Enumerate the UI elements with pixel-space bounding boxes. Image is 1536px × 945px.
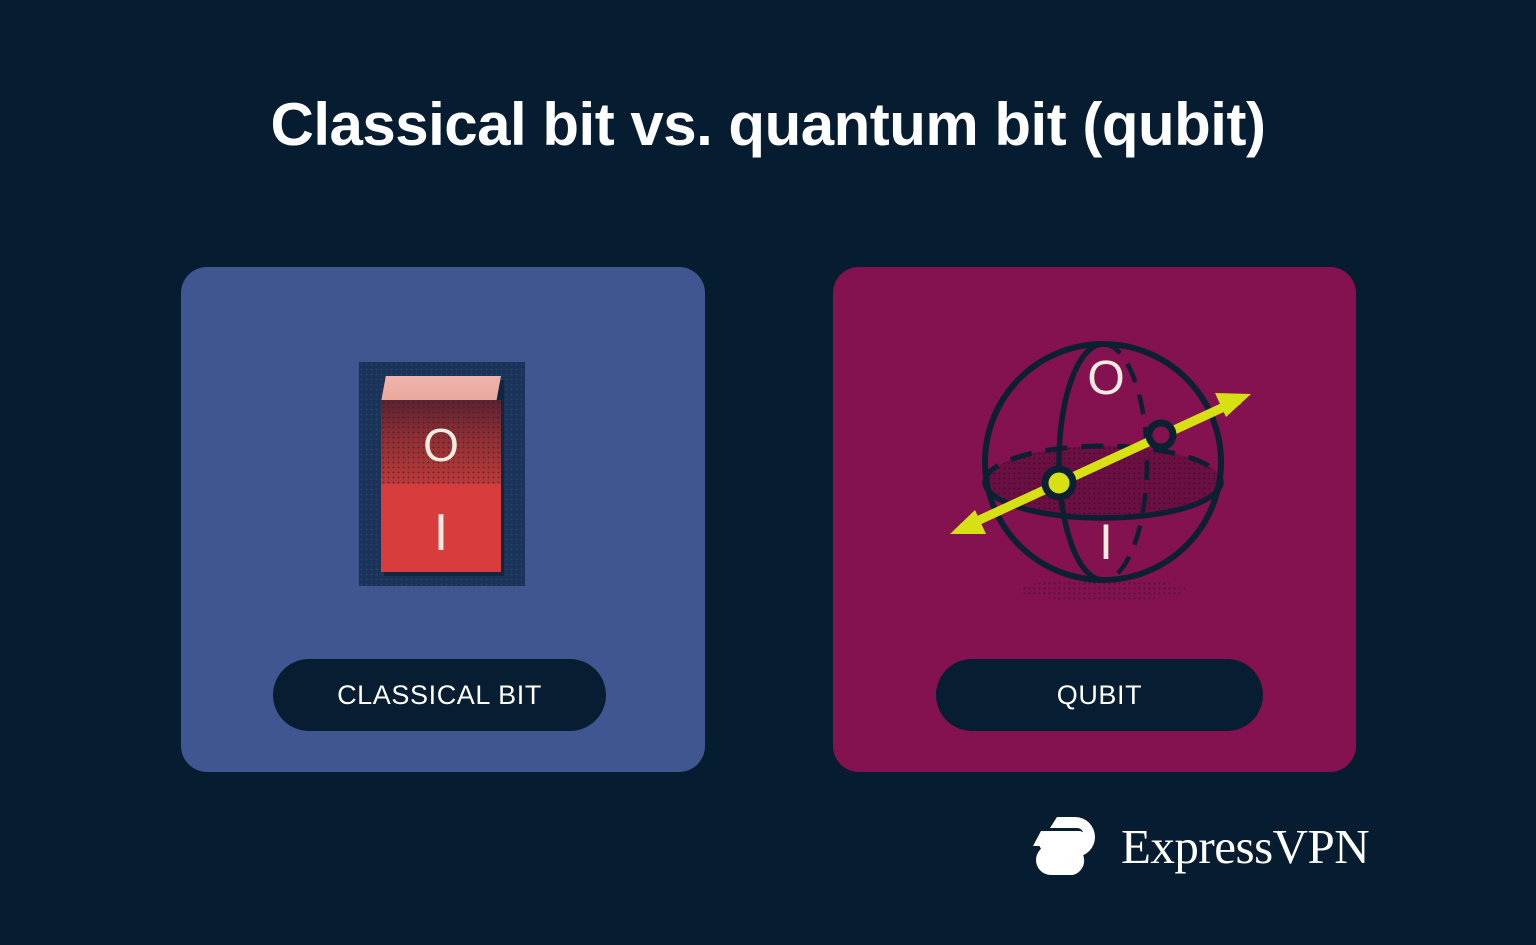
expressvpn-e-logo-icon bbox=[1031, 815, 1101, 877]
expressvpn-wordmark: ExpressVPN bbox=[1121, 822, 1369, 871]
switch-body: O I bbox=[381, 376, 501, 572]
card-qubit: O I QUBIT bbox=[833, 267, 1356, 772]
bloch-sphere-svg bbox=[938, 322, 1268, 612]
label-qubit: QUBIT bbox=[936, 659, 1263, 731]
card-classical-bit: O I CLASSICAL BIT bbox=[181, 267, 705, 772]
expressvpn-logo: ExpressVPN bbox=[1031, 815, 1369, 877]
switch-glyph-on: I bbox=[381, 507, 501, 559]
switch-top-bevel bbox=[381, 376, 501, 402]
label-classical-bit: CLASSICAL BIT bbox=[273, 659, 606, 731]
bloch-sphere-illustration: O I bbox=[938, 322, 1268, 612]
page-title: Classical bit vs. quantum bit (qubit) bbox=[0, 92, 1536, 158]
node-superposition-hollow bbox=[1149, 423, 1173, 447]
rocker-switch-illustration: O I bbox=[359, 362, 525, 586]
node-superposition-filled bbox=[1045, 469, 1073, 497]
switch-glyph-off: O bbox=[381, 422, 501, 468]
infographic-canvas: Classical bit vs. quantum bit (qubit) O … bbox=[0, 0, 1536, 945]
